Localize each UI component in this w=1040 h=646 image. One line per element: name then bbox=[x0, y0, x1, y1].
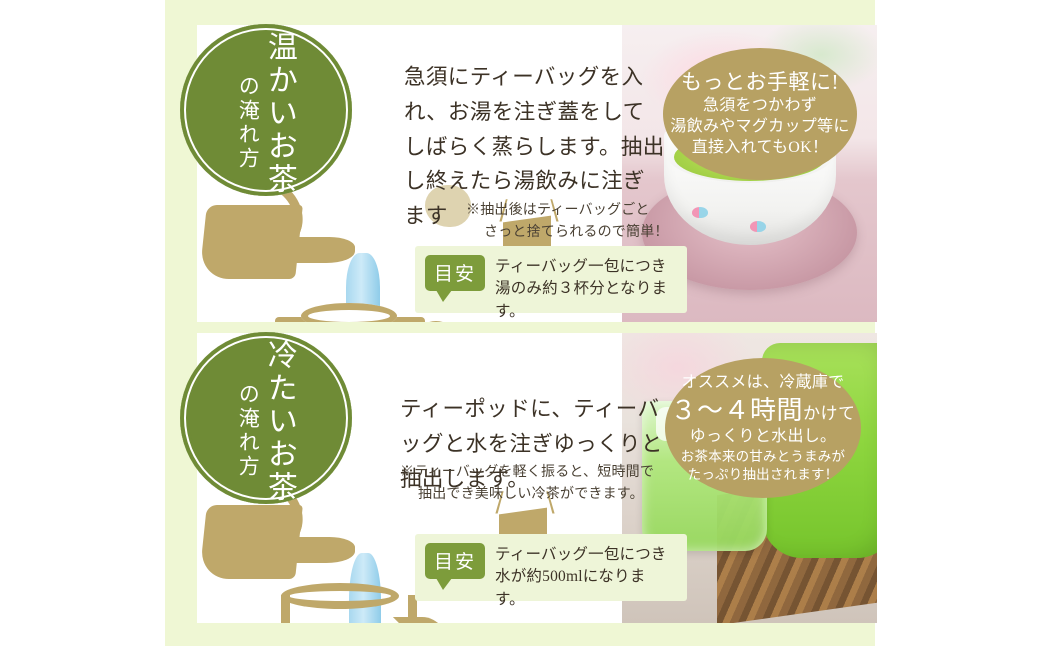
circle-cold-subtitle: の淹れ方 bbox=[236, 383, 260, 479]
cold-guideline-callout: 目安 ティーバッグ一包につき 水が約500mlになります。 bbox=[415, 534, 687, 601]
butterfly-motif bbox=[692, 207, 708, 218]
cold-note-line2: 抽出でき美味しい冷茶ができます。 bbox=[400, 484, 675, 506]
poster-stage: 温かいお茶 の淹れ方 急須にティーバッグを入れ、お湯を注ぎ蓋をしてしばらく蒸らし… bbox=[0, 0, 1040, 646]
kettle-spout bbox=[291, 237, 355, 263]
cold-tip-duration: ３〜４時間かけて bbox=[670, 394, 855, 428]
section-cold-circle-badge: 冷たいお茶 の淹れ方 bbox=[180, 332, 352, 504]
cold-tip-line1: オススメは、冷蔵庫で bbox=[681, 373, 844, 394]
circle-cold-title: 冷たいお茶 bbox=[262, 339, 296, 504]
hot-tip-line3: 湯飲みやマグカップ等に bbox=[670, 117, 849, 138]
cold-guideline-line1: ティーバッグ一包につき bbox=[495, 544, 675, 566]
circle-hot-label-group: 温かいお茶 の淹れ方 bbox=[236, 25, 296, 196]
hot-guideline-line2: 湯のみ約３杯分となります。 bbox=[495, 278, 675, 323]
cold-tip-line4: お茶本来の甘みとうまみが bbox=[681, 448, 845, 466]
cold-tip-line5: たっぷり抽出されます！ bbox=[688, 466, 839, 484]
jug-handle bbox=[393, 617, 451, 623]
butterfly-motif bbox=[750, 221, 766, 232]
kettle-body bbox=[199, 205, 303, 279]
cold-tip-line3: ゆっくりと水出し。 bbox=[690, 427, 837, 448]
teapot-rim bbox=[301, 303, 397, 322]
section-hot-circle-badge: 温かいお茶 の淹れ方 bbox=[180, 24, 352, 196]
hot-note-line1: ※抽出後はティーバッグごと bbox=[466, 203, 650, 218]
hot-tip-line2: 急須をつかわず bbox=[703, 96, 817, 117]
kettle-body bbox=[199, 505, 303, 579]
kettle-spout bbox=[291, 537, 355, 563]
cold-guideline-tag: 目安 bbox=[425, 543, 485, 579]
circle-hot-title: 温かいお茶 bbox=[262, 31, 296, 196]
hot-guideline-callout: 目安 ティーバッグ一包につき 湯のみ約３杯分となります。 bbox=[415, 246, 687, 313]
hot-tip-badge: もっとお手軽に! 急須をつかわず 湯飲みやマグカップ等に 直接入れてもOK！ bbox=[663, 48, 857, 180]
hot-guideline-line1: ティーバッグ一包につき bbox=[495, 256, 675, 278]
cold-note-line1: ※ティーバッグを軽く振ると、短時間で bbox=[400, 465, 654, 480]
hot-note-line2: さっと捨てられるので簡単！ bbox=[466, 222, 686, 244]
cold-tip-badge: オススメは、冷蔵庫で ３〜４時間かけて ゆっくりと水出し。 お茶本来の甘みとうま… bbox=[665, 358, 861, 498]
cold-guideline-text: ティーバッグ一包につき 水が約500mlになります。 bbox=[495, 543, 675, 611]
circle-hot-subtitle: の淹れ方 bbox=[236, 75, 260, 171]
circle-cold-label-group: 冷たいお茶 の淹れ方 bbox=[236, 333, 296, 504]
hot-guideline-text: ティーバッグ一包につき 湯のみ約３杯分となります。 bbox=[495, 255, 675, 323]
hot-tip-line4: 直接入れてもOK！ bbox=[692, 138, 829, 159]
hot-tip-line1: もっとお手軽に! bbox=[681, 69, 839, 96]
hot-note: ※抽出後はティーバッグごと さっと捨てられるので簡単！ bbox=[466, 200, 686, 245]
cold-note: ※ティーバッグを軽く振ると、短時間で 抽出でき美味しい冷茶ができます。 bbox=[400, 462, 675, 507]
hot-guideline-tag: 目安 bbox=[425, 255, 485, 291]
cold-guideline-line2: 水が約500mlになります。 bbox=[495, 566, 675, 611]
